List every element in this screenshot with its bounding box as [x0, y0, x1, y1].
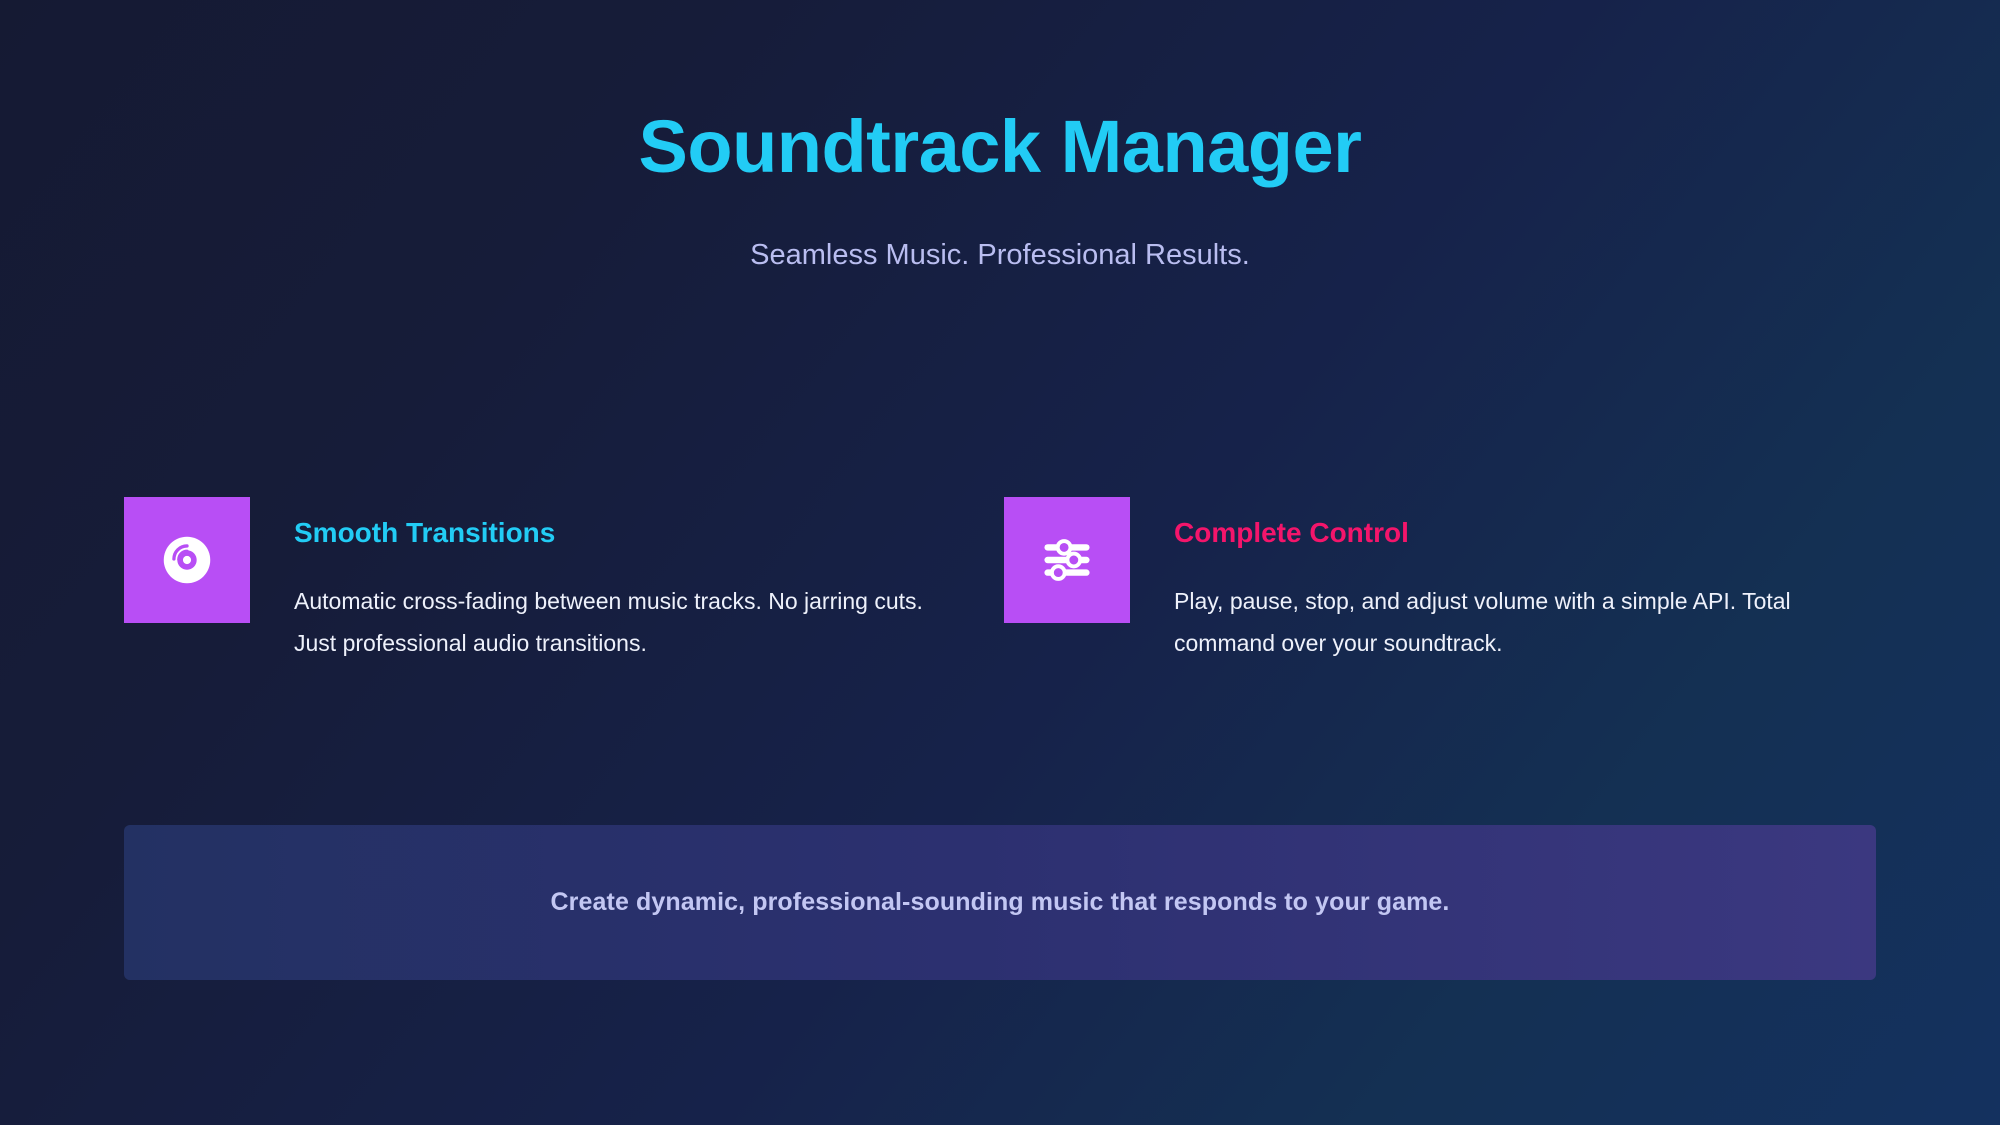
- callout-banner-text: Create dynamic, professional-sounding mu…: [551, 888, 1450, 917]
- feature-card-smooth-transitions: Smooth Transitions Automatic cross-fadin…: [124, 497, 1004, 665]
- feature-icon-container: [1004, 497, 1130, 623]
- feature-description: Automatic cross-fading between music tra…: [294, 581, 954, 665]
- soundtrack-manager-page: Soundtrack Manager Seamless Music. Profe…: [0, 0, 2000, 1125]
- page-title: Soundtrack Manager: [0, 110, 2000, 184]
- vinyl-disc-icon: [156, 529, 218, 591]
- callout-banner: Create dynamic, professional-sounding mu…: [124, 825, 1876, 980]
- feature-title: Smooth Transitions: [294, 518, 954, 549]
- feature-text-block: Smooth Transitions Automatic cross-fadin…: [250, 497, 954, 665]
- feature-list: Smooth Transitions Automatic cross-fadin…: [124, 497, 1884, 665]
- feature-text-block: Complete Control Play, pause, stop, and …: [1130, 497, 1864, 665]
- sliders-icon: [1036, 529, 1098, 591]
- page-header: Soundtrack Manager Seamless Music. Profe…: [0, 0, 2000, 273]
- feature-icon-container: [124, 497, 250, 623]
- feature-card-complete-control: Complete Control Play, pause, stop, and …: [1004, 497, 1884, 665]
- page-subtitle: Seamless Music. Professional Results.: [0, 238, 2000, 273]
- feature-description: Play, pause, stop, and adjust volume wit…: [1174, 581, 1864, 665]
- feature-title: Complete Control: [1174, 518, 1864, 549]
